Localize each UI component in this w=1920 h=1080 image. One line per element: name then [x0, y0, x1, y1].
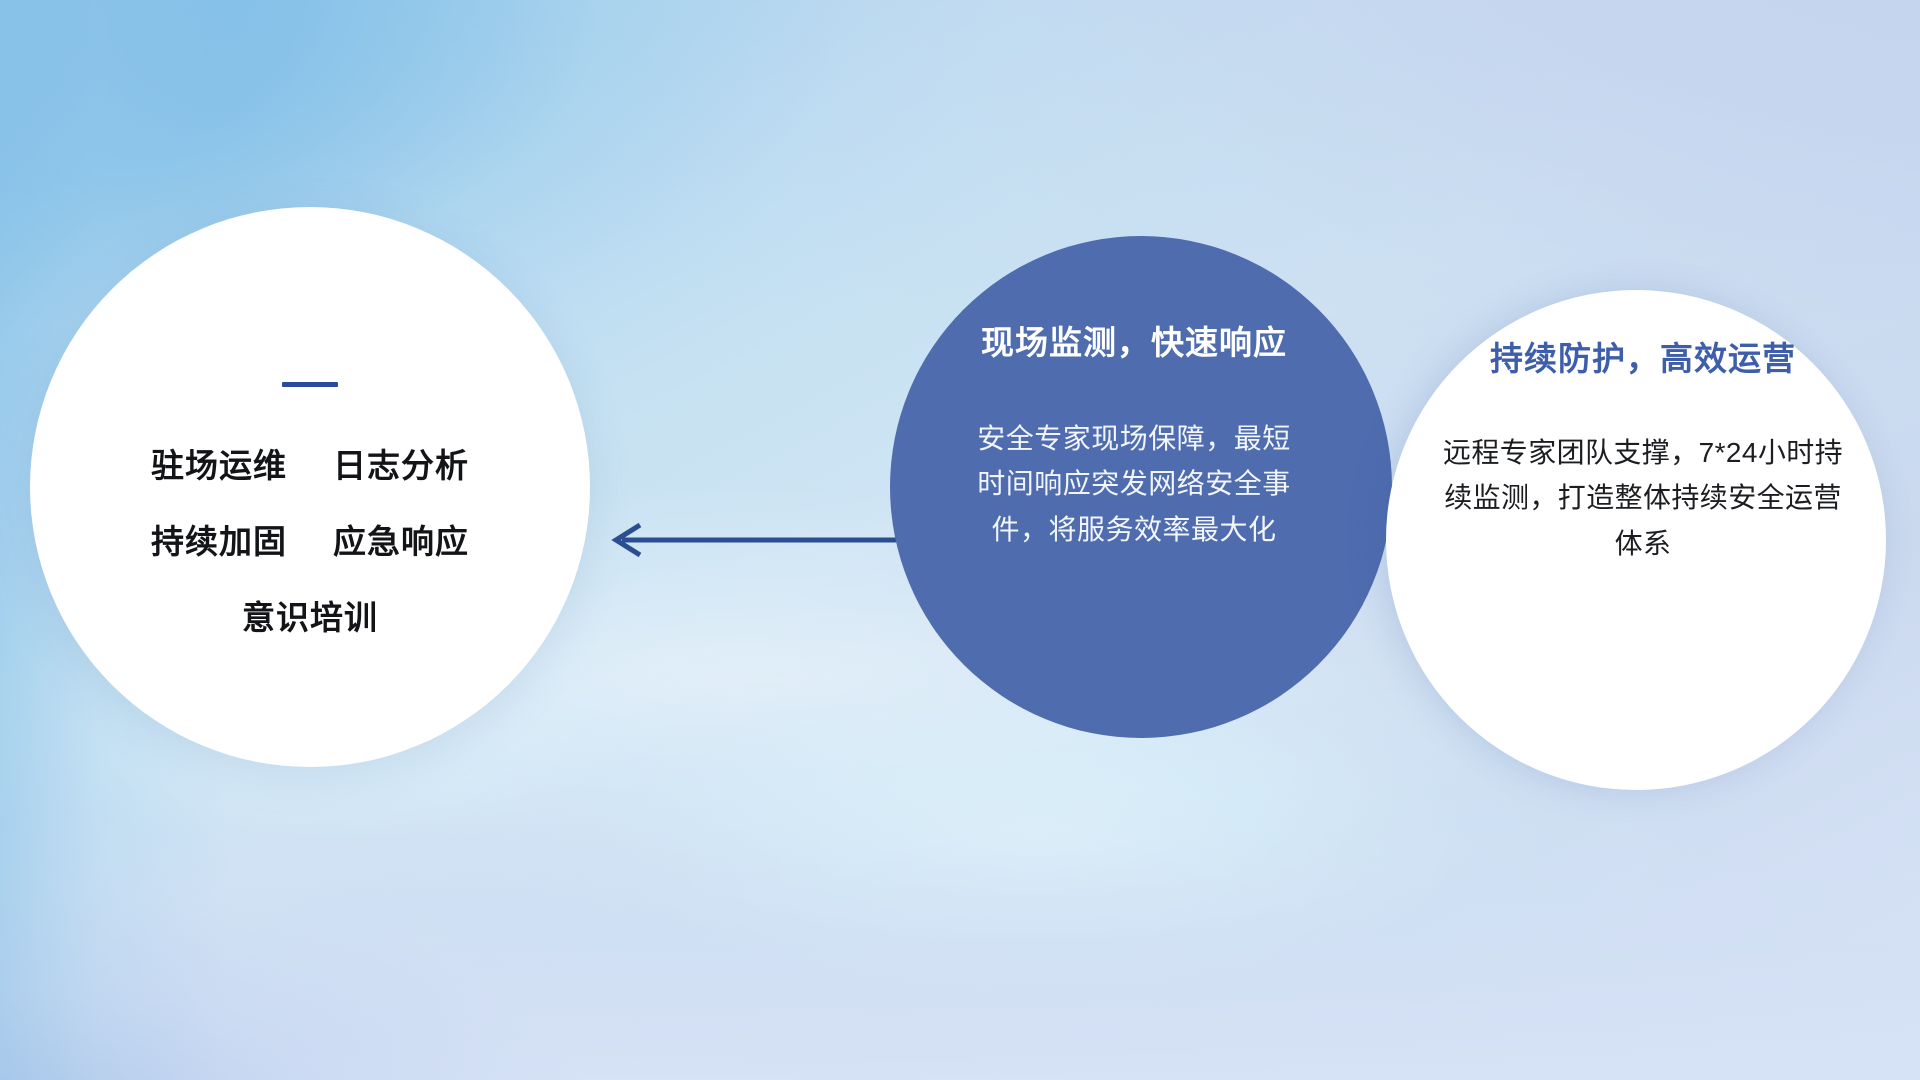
- onsite-monitoring-content: 现场监测，快速响应 安全专家现场保障，最短时间响应突发网络安全事件，将服务效率最…: [890, 236, 1392, 738]
- service-tag[interactable]: 驻场运维: [151, 439, 287, 487]
- divider-dash: [282, 382, 338, 387]
- continuous-protection-title: 持续防护，高效运营: [1490, 332, 1796, 380]
- driver-services-content: 驻场运维 日志分析 持续加固 应急响应 意识培训: [30, 207, 590, 767]
- flow-arrow-left-icon: [600, 510, 910, 570]
- service-tag[interactable]: 意识培训: [242, 591, 378, 639]
- table-row: 持续加固 应急响应: [151, 515, 469, 563]
- table-row: 驻场运维 日志分析: [151, 439, 469, 487]
- continuous-protection-content: 持续防护，高效运营 远程专家团队支撑，7*24小时持续监测，打造整体持续安全运营…: [1386, 290, 1886, 790]
- flow-arrow-left: [600, 510, 910, 570]
- service-tag[interactable]: 应急响应: [333, 515, 469, 563]
- onsite-monitoring-body: 安全专家现场保障，最短时间响应突发网络安全事件，将服务效率最大化: [974, 416, 1294, 552]
- continuous-protection-body: 远程专家团队支撑，7*24小时持续监测，打造整体持续安全运营体系: [1443, 430, 1843, 566]
- service-tag[interactable]: 日志分析: [333, 439, 469, 487]
- onsite-monitoring-title: 现场监测，快速响应: [981, 316, 1287, 364]
- service-tag-list: 驻场运维 日志分析 持续加固 应急响应 意识培训: [151, 439, 469, 639]
- driver-services-circle[interactable]: 驻场运维 日志分析 持续加固 应急响应 意识培训: [30, 207, 590, 767]
- onsite-monitoring-circle[interactable]: 现场监测，快速响应 安全专家现场保障，最短时间响应突发网络安全事件，将服务效率最…: [890, 236, 1392, 738]
- continuous-protection-circle[interactable]: 持续防护，高效运营 远程专家团队支撑，7*24小时持续监测，打造整体持续安全运营…: [1386, 290, 1886, 790]
- table-row: 意识培训: [242, 591, 378, 639]
- infographic-canvas: 驻场运维 日志分析 持续加固 应急响应 意识培训 现场监测，快速响应 安全专家现…: [0, 0, 1920, 1080]
- service-tag[interactable]: 持续加固: [151, 515, 287, 563]
